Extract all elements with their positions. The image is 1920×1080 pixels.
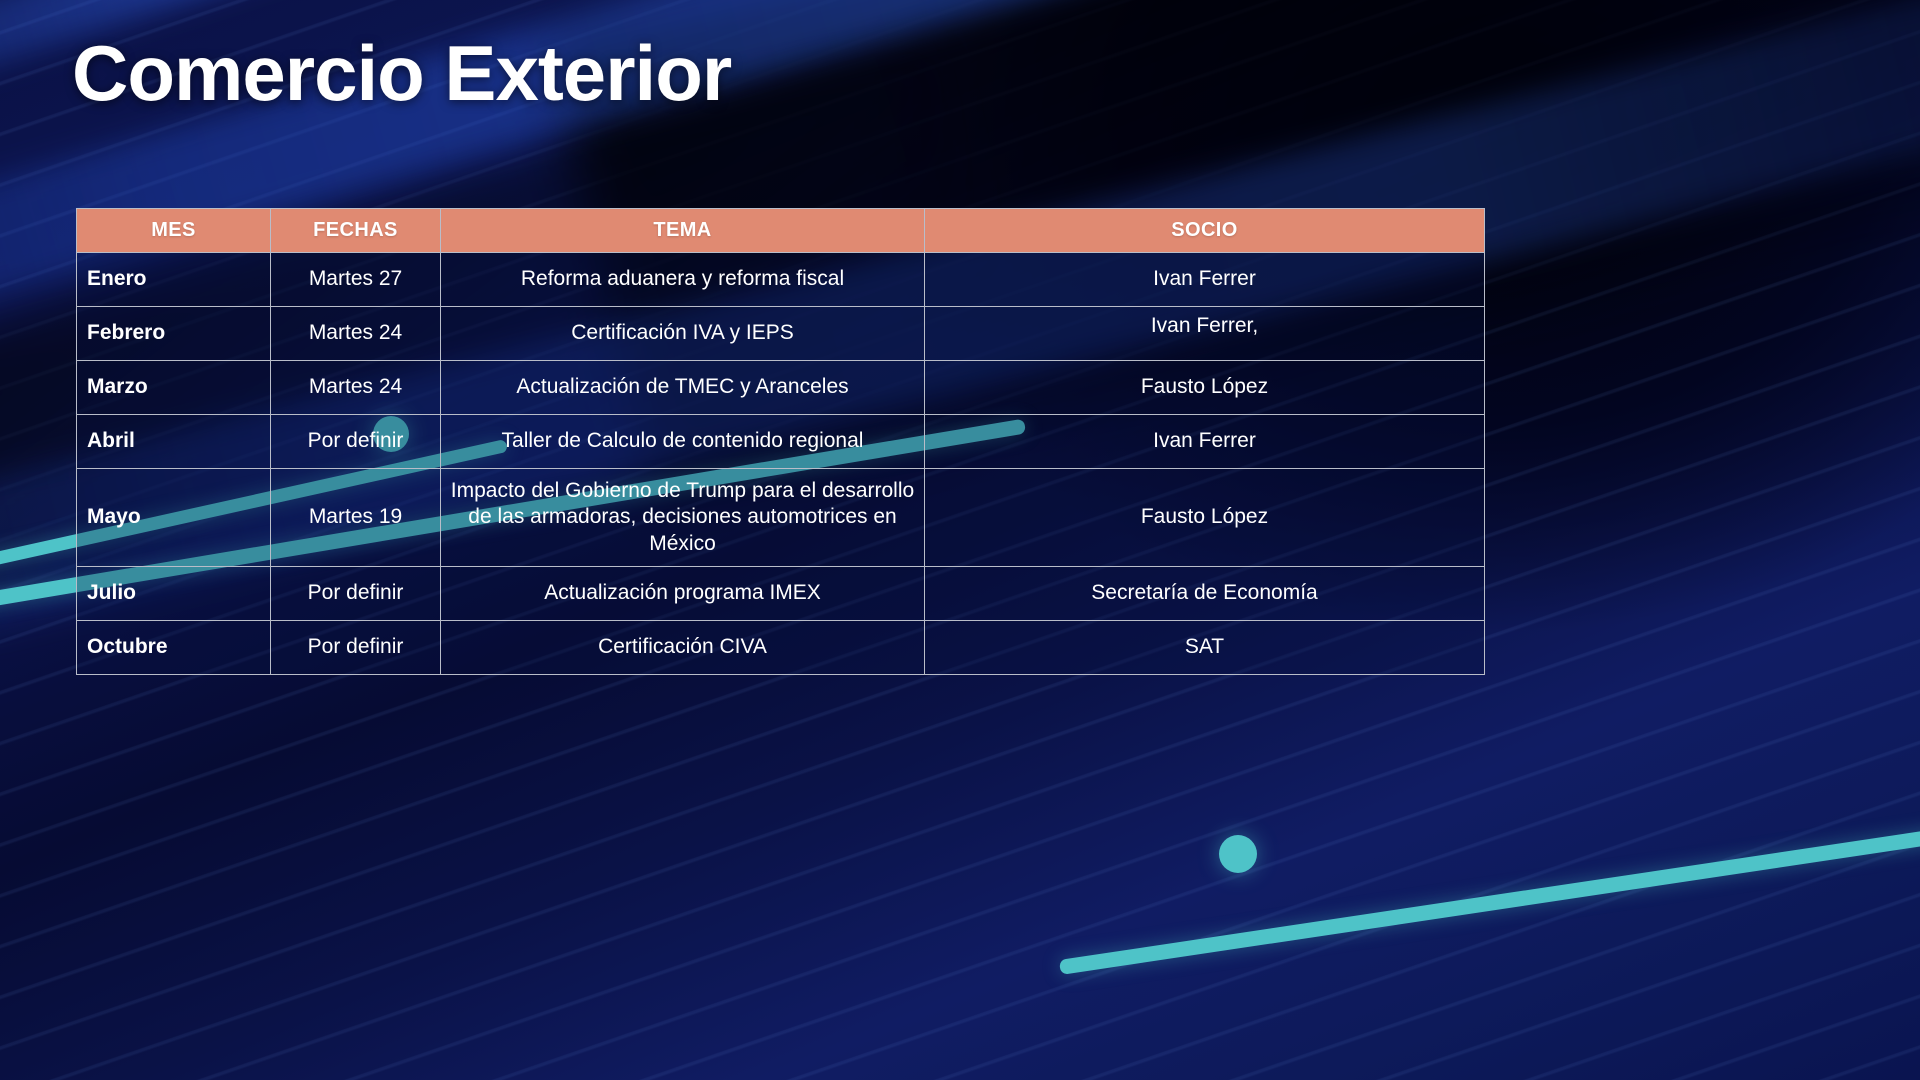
cell-mes: Julio [77,567,271,621]
table-row: FebreroMartes 24Certificación IVA y IEPS… [77,307,1485,361]
table-row: JulioPor definirActualización programa I… [77,567,1485,621]
column-header-socio: SOCIO [925,209,1485,253]
cell-socio: SAT [925,621,1485,675]
cell-socio: Ivan Ferrer [925,415,1485,469]
cell-mes: Marzo [77,361,271,415]
cell-socio: Ivan Ferrer [925,253,1485,307]
cell-tema: Actualización programa IMEX [441,567,925,621]
cell-socio: Fausto López [925,361,1485,415]
schedule-table-container: MES FECHAS TEMA SOCIO EneroMartes 27Refo… [76,208,1484,675]
cell-fechas: Martes 24 [271,361,441,415]
cell-tema: Certificación IVA y IEPS [441,307,925,361]
cell-socio: Ivan Ferrer, [925,307,1485,361]
table-row: MayoMartes 19Impacto del Gobierno de Tru… [77,469,1485,567]
cell-tema: Impacto del Gobierno de Trump para el de… [441,469,925,567]
cell-tema: Reforma aduanera y reforma fiscal [441,253,925,307]
table-body: EneroMartes 27Reforma aduanera y reforma… [77,253,1485,675]
table-row: OctubrePor definirCertificación CIVASAT [77,621,1485,675]
table-row: AbrilPor definirTaller de Calculo de con… [77,415,1485,469]
cell-fechas: Martes 19 [271,469,441,567]
cell-mes: Febrero [77,307,271,361]
table-row: MarzoMartes 24Actualización de TMEC y Ar… [77,361,1485,415]
page-title: Comercio Exterior [72,28,731,119]
cell-mes: Abril [77,415,271,469]
teal-node-bottom [1219,835,1257,873]
column-header-tema: TEMA [441,209,925,253]
cell-tema: Actualización de TMEC y Aranceles [441,361,925,415]
cell-socio: Fausto López [925,469,1485,567]
cell-fechas: Por definir [271,567,441,621]
cell-fechas: Martes 24 [271,307,441,361]
cell-mes: Mayo [77,469,271,567]
cell-fechas: Por definir [271,621,441,675]
slide-root: Comercio Exterior MES FECHAS TEMA SOCIO … [0,0,1920,1080]
cell-tema: Certificación CIVA [441,621,925,675]
column-header-fechas: FECHAS [271,209,441,253]
schedule-table: MES FECHAS TEMA SOCIO EneroMartes 27Refo… [76,208,1485,675]
cell-fechas: Por definir [271,415,441,469]
cell-fechas: Martes 27 [271,253,441,307]
column-header-mes: MES [77,209,271,253]
table-header: MES FECHAS TEMA SOCIO [77,209,1485,253]
cell-mes: Enero [77,253,271,307]
table-header-row: MES FECHAS TEMA SOCIO [77,209,1485,253]
table-row: EneroMartes 27Reforma aduanera y reforma… [77,253,1485,307]
cell-mes: Octubre [77,621,271,675]
cell-socio: Secretaría de Economía [925,567,1485,621]
cell-tema: Taller de Calculo de contenido regional [441,415,925,469]
